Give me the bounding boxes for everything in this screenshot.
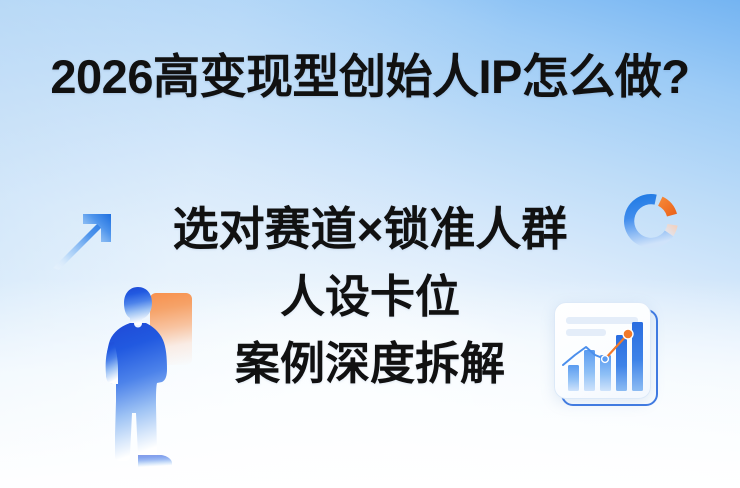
businessman-silhouette-group [68, 285, 208, 485]
card-face [554, 302, 651, 399]
donut-chart-icon [614, 184, 688, 258]
page-title: 2026高变现型创始人IP怎么做? [0, 48, 740, 106]
trend-line-overlay [555, 303, 651, 399]
businessman-silhouette-icon [68, 285, 208, 485]
poster-canvas: 2026高变现型创始人IP怎么做? 选对赛道×锁准人群 人设卡位 案例深度拆解 [0, 0, 740, 488]
bar-chart-card-icon [554, 302, 660, 408]
